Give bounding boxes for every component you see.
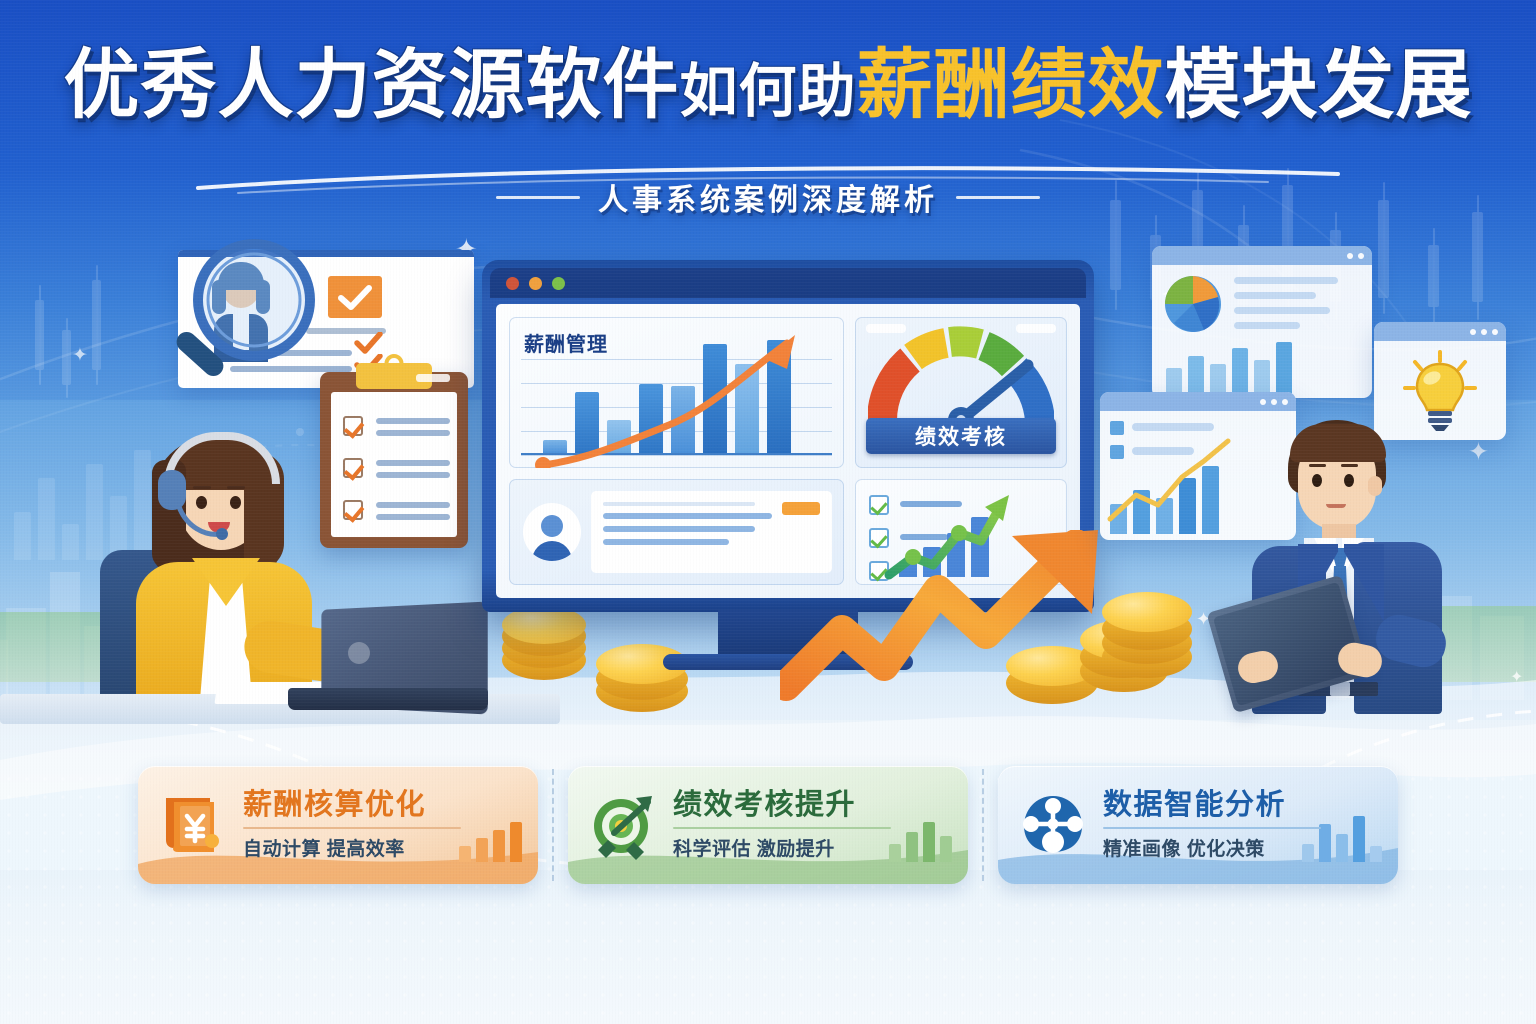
card-divider [552,769,554,881]
card-text-block: 绩效考核提升 科学评估 激励提升 [673,789,891,861]
card-bars [459,822,522,862]
headset-mic-icon [172,502,232,546]
card-text-block: 薪酬核算优化 自动计算 提高效率 [243,789,461,861]
window-dot [1470,329,1476,335]
window-dot [1347,253,1353,259]
window-dot [1260,399,1266,405]
status-badge [782,502,820,515]
card-subtitle: 科学评估 激励提升 [673,834,891,861]
sparkle-icon: ✦ [1468,440,1489,465]
window-content [1152,265,1372,398]
card-title: 薪酬核算优化 [243,789,461,821]
window-title-bar [490,268,1086,298]
gauge-dial [855,325,1067,425]
feature-card-analytics[interactable]: 数据智能分析 精准画像 优化决策 [998,766,1398,884]
card-rule [673,827,891,829]
window-title-bar [1152,246,1372,265]
poster-canvas: ✦ ✦ ✦ ✦ ✦ ✦ ✦ 优秀人力资源软件如何助薪酬绩效模块发展 人事系统案例… [0,0,1536,1024]
salary-chart-panel[interactable]: 薪酬管理 [509,317,844,468]
card-divider [982,769,984,881]
data-network-icon [1016,788,1090,862]
feature-cards-row: 薪酬核算优化 自动计算 提高效率 [0,766,1536,884]
subtitle-line-right [956,196,1040,199]
window-dot [1492,329,1498,335]
performance-gauge-panel[interactable]: 绩效考核 [855,317,1067,468]
page-subtitle: 人事系统案例深度解析 [598,175,938,219]
poster-header: 优秀人力资源软件如何助薪酬绩效模块发展 [0,46,1536,127]
card-text-block: 数据智能分析 精准画像 优化决策 [1103,789,1321,861]
subtitle-line-left [496,196,580,199]
gauge-label-badge: 绩效考核 [866,418,1056,454]
window-dot [1358,253,1364,259]
target-arrow-icon [586,788,660,862]
title-highlight: 薪酬绩效 [857,43,1165,128]
card-subtitle: 自动计算 提高效率 [243,834,461,861]
window-dot [1282,399,1288,405]
window-title-bar [1374,322,1506,341]
magnifier-icon [162,234,342,414]
card-rule [243,827,461,829]
window-minimize-dot[interactable] [529,277,542,290]
title-part-3: 模块发展 [1165,43,1473,128]
window-maximize-dot[interactable] [552,277,565,290]
small-check-icon [354,332,384,354]
sparkle-icon: ✦ [72,346,88,365]
card-title: 绩效考核提升 [673,789,891,821]
card-subtitle: 精准画像 优化决策 [1103,834,1321,861]
window-title-bar [1100,392,1296,411]
window-dot [1481,329,1487,335]
hr-specialist-with-headset [96,430,496,720]
avatar [523,503,581,561]
subtitle-row: 人事系统案例深度解析 [0,175,1536,219]
feature-card-performance[interactable]: 绩效考核提升 科学评估 激励提升 [568,766,968,884]
card-title: 数据智能分析 [1103,789,1321,821]
title-part-2: 如何助 [679,59,856,124]
salary-book-icon [156,788,230,862]
page-title: 优秀人力资源软件如何助薪酬绩效模块发展 [0,46,1536,127]
gold-coin-stack-right-3 [1072,584,1202,694]
feature-card-salary[interactable]: 薪酬核算优化 自动计算 提高效率 [138,766,538,884]
window-close-dot[interactable] [506,277,519,290]
title-part-1: 优秀人力资源软件 [63,43,679,128]
pie-chart-icon [1162,273,1224,335]
card-bars [889,822,952,862]
analytics-window-pie[interactable] [1152,246,1372,398]
window-dot [1271,399,1277,405]
manager-with-tablet [1226,420,1466,720]
card-rule [1103,827,1321,829]
salary-chart-label: 薪酬管理 [524,328,608,357]
sparkle-icon: ✦ [1510,670,1523,686]
